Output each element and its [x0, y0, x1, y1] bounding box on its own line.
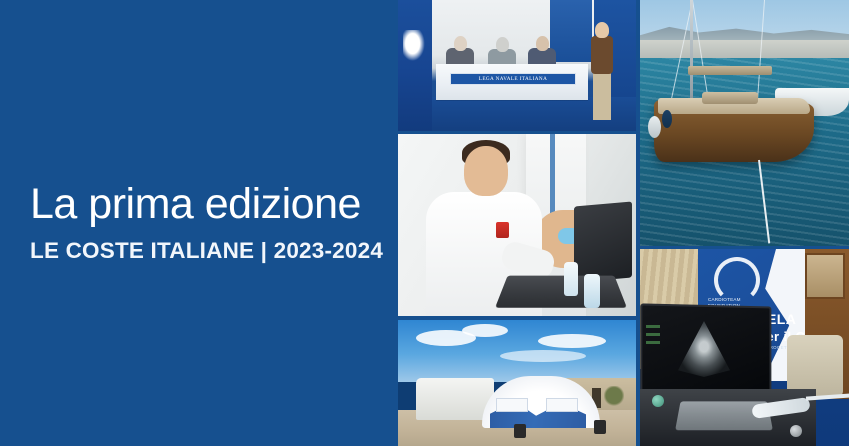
photo-collage: LEGA NAVALE ITALIANA [396, 0, 849, 446]
tent-logo [546, 398, 578, 412]
laptop-screen [574, 201, 632, 282]
framed-picture [805, 253, 845, 299]
page-title: La prima edizione [30, 182, 396, 227]
photo-press-conference: LEGA NAVALE ITALIANA [398, 0, 636, 131]
rollup-banner-center [550, 0, 592, 62]
control-knob [652, 395, 664, 407]
fender [662, 110, 672, 128]
screen-indicator [646, 325, 660, 328]
screen-indicator [646, 341, 660, 344]
sanitizer-bottle [564, 262, 578, 296]
coastal-town [640, 40, 849, 58]
page-subtitle: LE COSTE ITALIANE | 2023-2024 [30, 239, 396, 264]
cabin [702, 92, 758, 104]
tent-logo [496, 398, 528, 412]
cloud [462, 324, 508, 337]
banner-text-block: La prima edizione LE COSTE ITALIANE | 20… [0, 0, 396, 446]
photo-wooden-sailboat [640, 0, 849, 246]
fender [648, 116, 661, 138]
plant-pot [594, 420, 606, 434]
plant-pot [514, 424, 526, 438]
boom [688, 66, 772, 75]
sanitizer-bottle [584, 274, 600, 308]
laptop-keyboard [495, 276, 627, 308]
photo-medical-screening [398, 134, 636, 316]
photo-echocardiogram: CARDIOTEAM FOUNDATION UNA VELA per il CU… [640, 249, 849, 446]
screen-indicator [646, 333, 660, 336]
cushion [787, 335, 843, 397]
cloud [538, 334, 606, 348]
rollup-banner-left [398, 0, 432, 131]
hero-banner: La prima edizione LE COSTE ITALIANE | 20… [0, 0, 849, 446]
mast [690, 0, 693, 104]
cloud [500, 350, 586, 362]
tree [604, 386, 624, 410]
table-banner: LEGA NAVALE ITALIANA [450, 73, 576, 85]
tshirt-logo [496, 222, 509, 238]
photo-inflatable-tent [398, 320, 636, 446]
table-banner-text: LEGA NAVALE ITALIANA [451, 74, 575, 84]
control-knob [790, 425, 802, 437]
operator-head [464, 146, 508, 196]
